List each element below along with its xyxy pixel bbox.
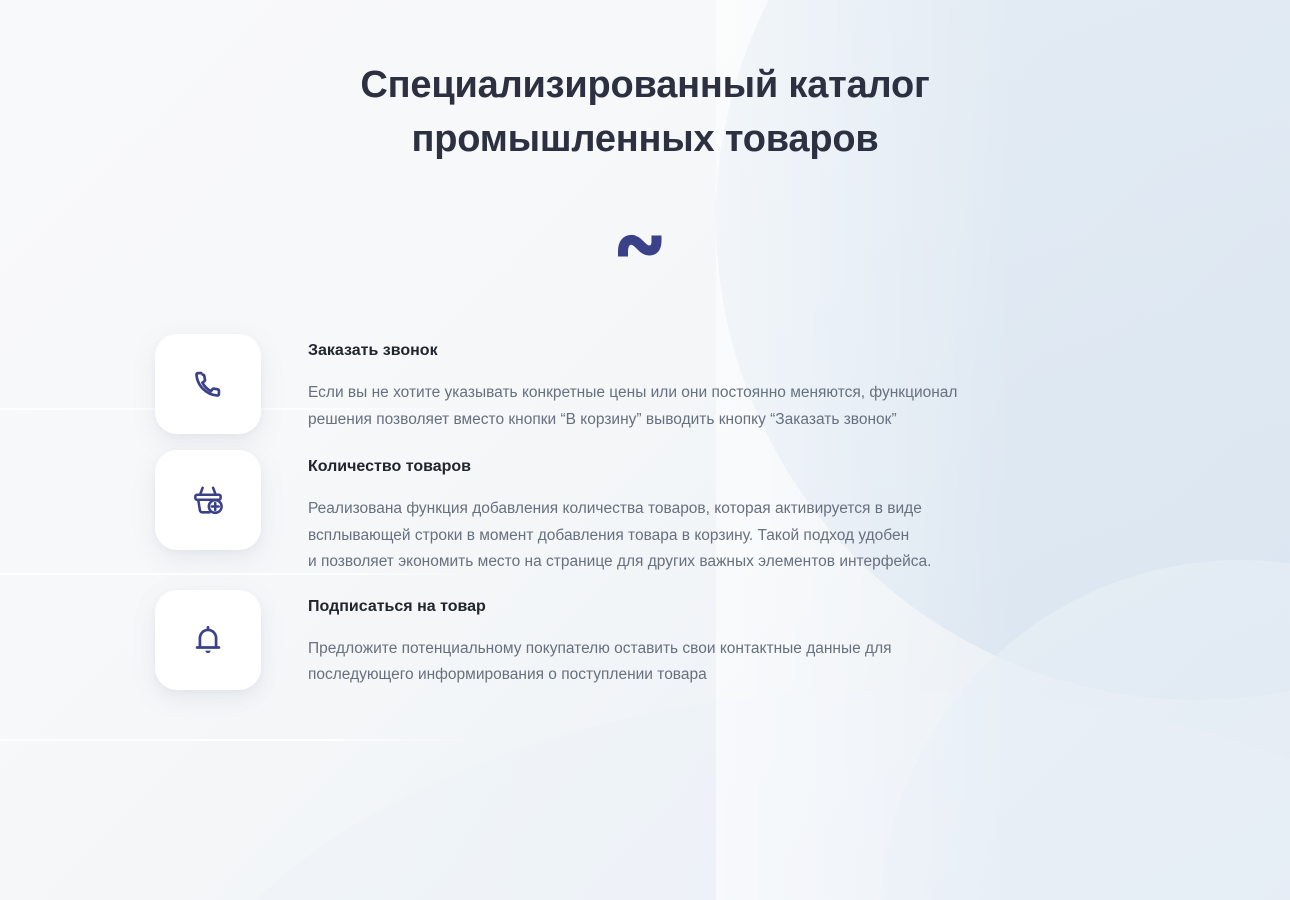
feature-text-block: Заказать звонок Если вы не хотите указыв… xyxy=(261,334,957,433)
feature-description: Реализована функция добавления количеств… xyxy=(308,496,931,576)
feature-text-block: Количество товаров Реализована функция д… xyxy=(261,450,931,576)
phone-icon xyxy=(191,367,225,401)
feature-icon-card xyxy=(155,590,261,690)
feature-item-product-quantity: Количество товаров Реализована функция д… xyxy=(155,450,1290,576)
feature-title: Количество товаров xyxy=(308,456,931,478)
feature-icon-card xyxy=(155,334,261,434)
section-divider xyxy=(0,226,1290,266)
feature-description: Предложите потенциальному покупателю ост… xyxy=(308,636,892,689)
feature-item-subscribe-product: Подписаться на товар Предложите потенциа… xyxy=(155,590,1290,690)
landing-page: Специализированный каталог промышленных … xyxy=(0,0,1290,900)
bell-icon xyxy=(191,623,225,657)
feature-description: Если вы не хотите указывать конкретные ц… xyxy=(308,380,957,433)
page-title: Специализированный каталог промышленных … xyxy=(295,58,995,166)
feature-list: Заказать звонок Если вы не хотите указыв… xyxy=(0,334,1290,690)
background-rule-line xyxy=(0,739,470,741)
squiggle-icon xyxy=(617,229,673,263)
feature-text-block: Подписаться на товар Предложите потенциа… xyxy=(261,590,892,689)
feature-item-call-request: Заказать звонок Если вы не хотите указыв… xyxy=(155,334,1290,434)
feature-title: Подписаться на товар xyxy=(308,596,892,618)
feature-title: Заказать звонок xyxy=(308,340,957,362)
background-swoosh-shape xyxy=(140,690,1290,900)
page-header: Специализированный каталог промышленных … xyxy=(0,0,1290,266)
feature-icon-card xyxy=(155,450,261,550)
basket-plus-icon xyxy=(191,483,225,517)
